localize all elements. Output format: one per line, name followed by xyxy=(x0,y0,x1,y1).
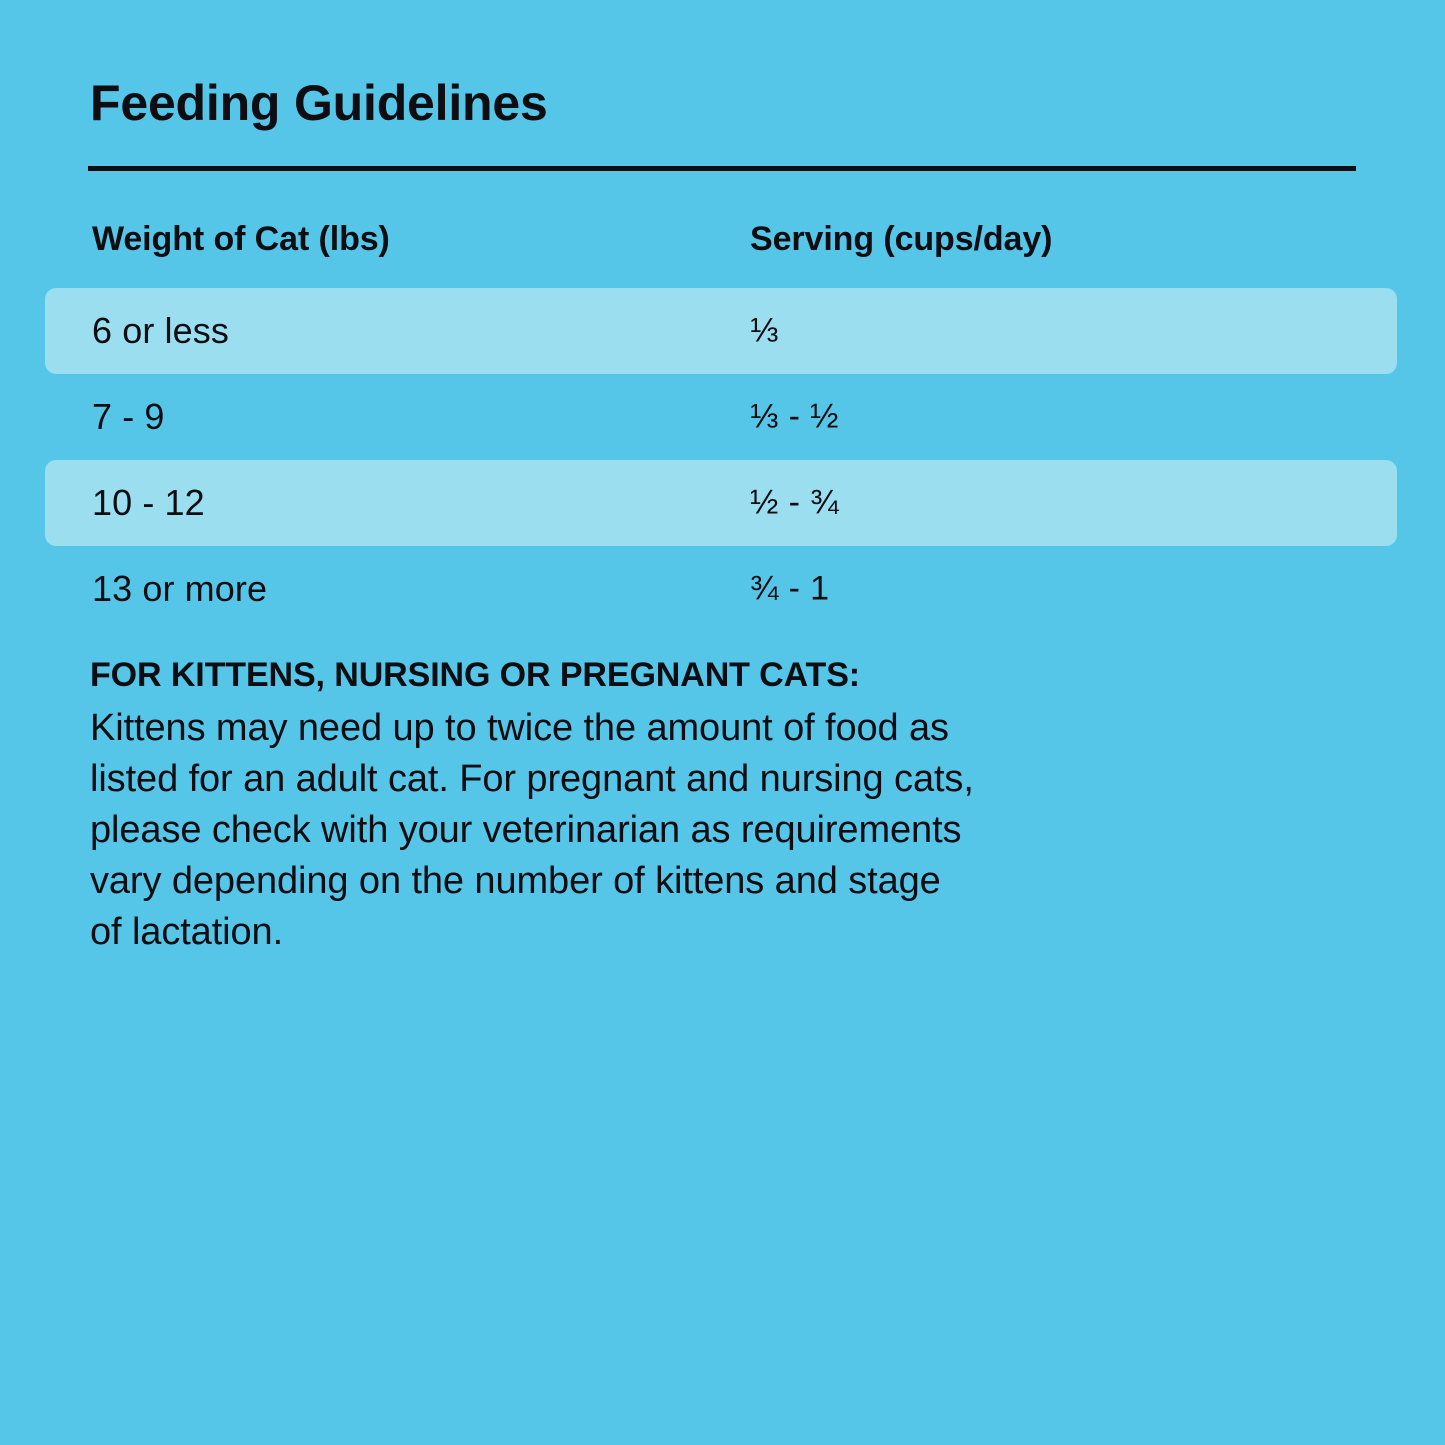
kitten-note: FOR KITTENS, NURSING OR PREGNANT CATS: K… xyxy=(90,655,1290,958)
cell-weight: 10 - 12 xyxy=(92,482,205,524)
row-highlight xyxy=(45,288,1397,374)
cell-serving: ⅓ - ½ xyxy=(750,398,839,437)
cell-serving: ⅓ xyxy=(750,312,779,351)
note-line: of lactation. xyxy=(90,907,1290,958)
column-header-serving: Serving (cups/day) xyxy=(750,220,1052,259)
note-line: vary depending on the number of kittens … xyxy=(90,856,1290,907)
table-row: 13 or more ¾ - 1 xyxy=(0,546,1445,632)
note-body: Kittens may need up to twice the amount … xyxy=(90,703,1290,958)
cell-weight: 7 - 9 xyxy=(92,396,165,438)
cell-serving: ½ - ¾ xyxy=(750,484,839,523)
table-header-row: Weight of Cat (lbs) Serving (cups/day) xyxy=(0,206,1445,288)
note-line: listed for an adult cat. For pregnant an… xyxy=(90,754,1290,805)
note-heading: FOR KITTENS, NURSING OR PREGNANT CATS: xyxy=(90,655,1290,695)
cell-serving: ¾ - 1 xyxy=(750,570,829,609)
feeding-guidelines-panel: Feeding Guidelines Weight of Cat (lbs) S… xyxy=(0,0,1445,1445)
table-row: 10 - 12 ½ - ¾ xyxy=(0,460,1445,546)
cell-weight: 6 or less xyxy=(92,310,229,352)
column-header-weight: Weight of Cat (lbs) xyxy=(92,220,390,259)
note-line: please check with your veterinarian as r… xyxy=(90,805,1290,856)
table-row: 6 or less ⅓ xyxy=(0,288,1445,374)
note-line: Kittens may need up to twice the amount … xyxy=(90,703,1290,754)
cell-weight: 13 or more xyxy=(92,568,267,610)
title-divider xyxy=(88,166,1356,171)
table-row: 7 - 9 ⅓ - ½ xyxy=(0,374,1445,460)
table-body: 6 or less ⅓ 7 - 9 ⅓ - ½ 10 - 12 ½ - ¾ 13… xyxy=(0,288,1445,632)
feeding-table: Weight of Cat (lbs) Serving (cups/day) 6… xyxy=(0,206,1445,632)
row-highlight xyxy=(45,460,1397,546)
page-title: Feeding Guidelines xyxy=(90,78,548,128)
